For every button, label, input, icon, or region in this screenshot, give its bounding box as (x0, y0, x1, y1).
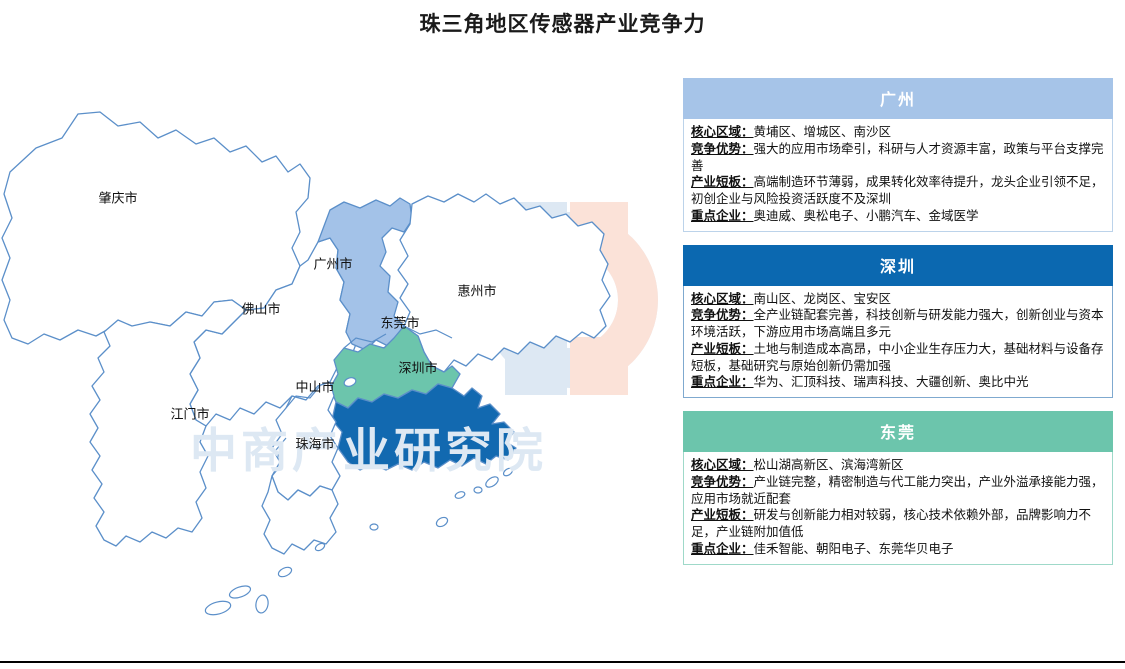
card-row: 核心区域：黄埔区、增城区、南沙区 (691, 124, 1105, 141)
card-row: 重点企业：奥迪威、奥松电子、小鹏汽车、金域医学 (691, 208, 1105, 225)
row-value: 奥迪威、奥松电子、小鹏汽车、金域医学 (754, 208, 979, 223)
city-cards: 广州 核心区域：黄埔区、增城区、南沙区 竞争优势：强大的应用市场牵引，科研与人才… (683, 78, 1113, 578)
card-row: 核心区域：南山区、龙岗区、宝安区 (691, 291, 1105, 308)
page-title: 珠三角地区传感器产业竞争力 (0, 8, 1125, 38)
row-key: 核心区域： (691, 457, 754, 472)
map-label-foshan: 佛山市 (241, 299, 280, 318)
row-key: 核心区域： (691, 291, 754, 306)
row-value: 产业链完整，精密制造与代工能力突出，产业外溢承接能力强，应用市场就近配套 (691, 474, 1104, 506)
row-key: 核心区域： (691, 124, 754, 139)
row-key: 产业短板： (691, 341, 754, 356)
pearl-river-delta-map (0, 52, 680, 652)
row-key: 竞争优势： (691, 474, 754, 489)
row-key: 重点企业： (691, 541, 754, 556)
row-value: 强大的应用市场牵引，科研与人才资源丰富，政策与平台支撑完善 (691, 141, 1104, 173)
card-row: 产业短板：研发与创新能力相对较弱，核心技术依赖外部，品牌影响力不足，产业链附加值… (691, 507, 1105, 541)
map-label-shenzhen: 深圳市 (398, 358, 437, 377)
card-row: 重点企业：佳禾智能、朝阳电子、东莞华贝电子 (691, 541, 1105, 558)
card-dongguan-title: 东莞 (683, 411, 1113, 452)
card-row: 核心区域：松山湖高新区、滨海湾新区 (691, 457, 1105, 474)
map-label-jiangmen: 江门市 (170, 404, 209, 423)
row-value: 松山湖高新区、滨海湾新区 (754, 457, 904, 472)
row-key: 产业短板： (691, 507, 754, 522)
row-key: 重点企业： (691, 208, 754, 223)
card-shenzhen: 深圳 核心区域：南山区、龙岗区、宝安区 竞争优势：全产业链配套完善，科技创新与研… (683, 245, 1113, 399)
card-row: 重点企业：华为、汇顶科技、瑞声科技、大疆创新、奥比中光 (691, 374, 1105, 391)
row-value: 黄埔区、增城区、南沙区 (754, 124, 892, 139)
row-key: 竞争优势： (691, 307, 754, 322)
card-shenzhen-body: 核心区域：南山区、龙岗区、宝安区 竞争优势：全产业链配套完善，科技创新与研发能力… (683, 286, 1113, 399)
map-label-dongguan: 东莞市 (380, 313, 419, 332)
map-panel: 中商产业研究院 (0, 52, 680, 652)
card-guangzhou-title: 广州 (683, 78, 1113, 119)
card-guangzhou: 广州 核心区域：黄埔区、增城区、南沙区 竞争优势：强大的应用市场牵引，科研与人才… (683, 78, 1113, 232)
map-label-zhongshan: 中山市 (295, 377, 334, 396)
row-value: 高端制造环节薄弱，成果转化效率待提升，龙头企业引领不足，初创企业与风险投资活跃度… (691, 174, 1104, 206)
map-label-zhuhai: 珠海市 (295, 434, 334, 453)
row-key: 竞争优势： (691, 141, 754, 156)
bottom-divider (0, 661, 1125, 663)
row-value: 南山区、龙岗区、宝安区 (754, 291, 892, 306)
card-dongguan-body: 核心区域：松山湖高新区、滨海湾新区 竞争优势：产业链完整，精密制造与代工能力突出… (683, 452, 1113, 565)
card-row: 产业短板：高端制造环节薄弱，成果转化效率待提升，龙头企业引领不足，初创企业与风险… (691, 174, 1105, 208)
infographic-page: 珠三角地区传感器产业竞争力 (0, 0, 1125, 669)
card-row: 竞争优势：产业链完整，精密制造与代工能力突出，产业外溢承接能力强，应用市场就近配… (691, 474, 1105, 508)
map-label-guangzhou: 广州市 (313, 254, 352, 273)
card-row: 竞争优势：全产业链配套完善，科技创新与研发能力强大，创新创业与资本环境活跃，下游… (691, 307, 1105, 341)
map-label-huizhou: 惠州市 (457, 281, 496, 300)
row-value: 土地与制造成本高昂，中小企业生存压力大，基础材料与设备存短板，基础研究与原始创新… (691, 341, 1104, 373)
card-shenzhen-title: 深圳 (683, 245, 1113, 286)
card-row: 产业短板：土地与制造成本高昂，中小企业生存压力大，基础材料与设备存短板，基础研究… (691, 341, 1105, 375)
row-value: 全产业链配套完善，科技创新与研发能力强大，创新创业与资本环境活跃，下游应用市场高… (691, 307, 1104, 339)
row-value: 华为、汇顶科技、瑞声科技、大疆创新、奥比中光 (754, 374, 1029, 389)
card-row: 竞争优势：强大的应用市场牵引，科研与人才资源丰富，政策与平台支撑完善 (691, 141, 1105, 175)
card-guangzhou-body: 核心区域：黄埔区、增城区、南沙区 竞争优势：强大的应用市场牵引，科研与人才资源丰… (683, 119, 1113, 232)
map-label-zhaoqing: 肇庆市 (98, 188, 137, 207)
row-key: 重点企业： (691, 374, 754, 389)
row-key: 产业短板： (691, 174, 754, 189)
row-value: 佳禾智能、朝阳电子、东莞华贝电子 (754, 541, 954, 556)
card-dongguan: 东莞 核心区域：松山湖高新区、滨海湾新区 竞争优势：产业链完整，精密制造与代工能… (683, 411, 1113, 565)
